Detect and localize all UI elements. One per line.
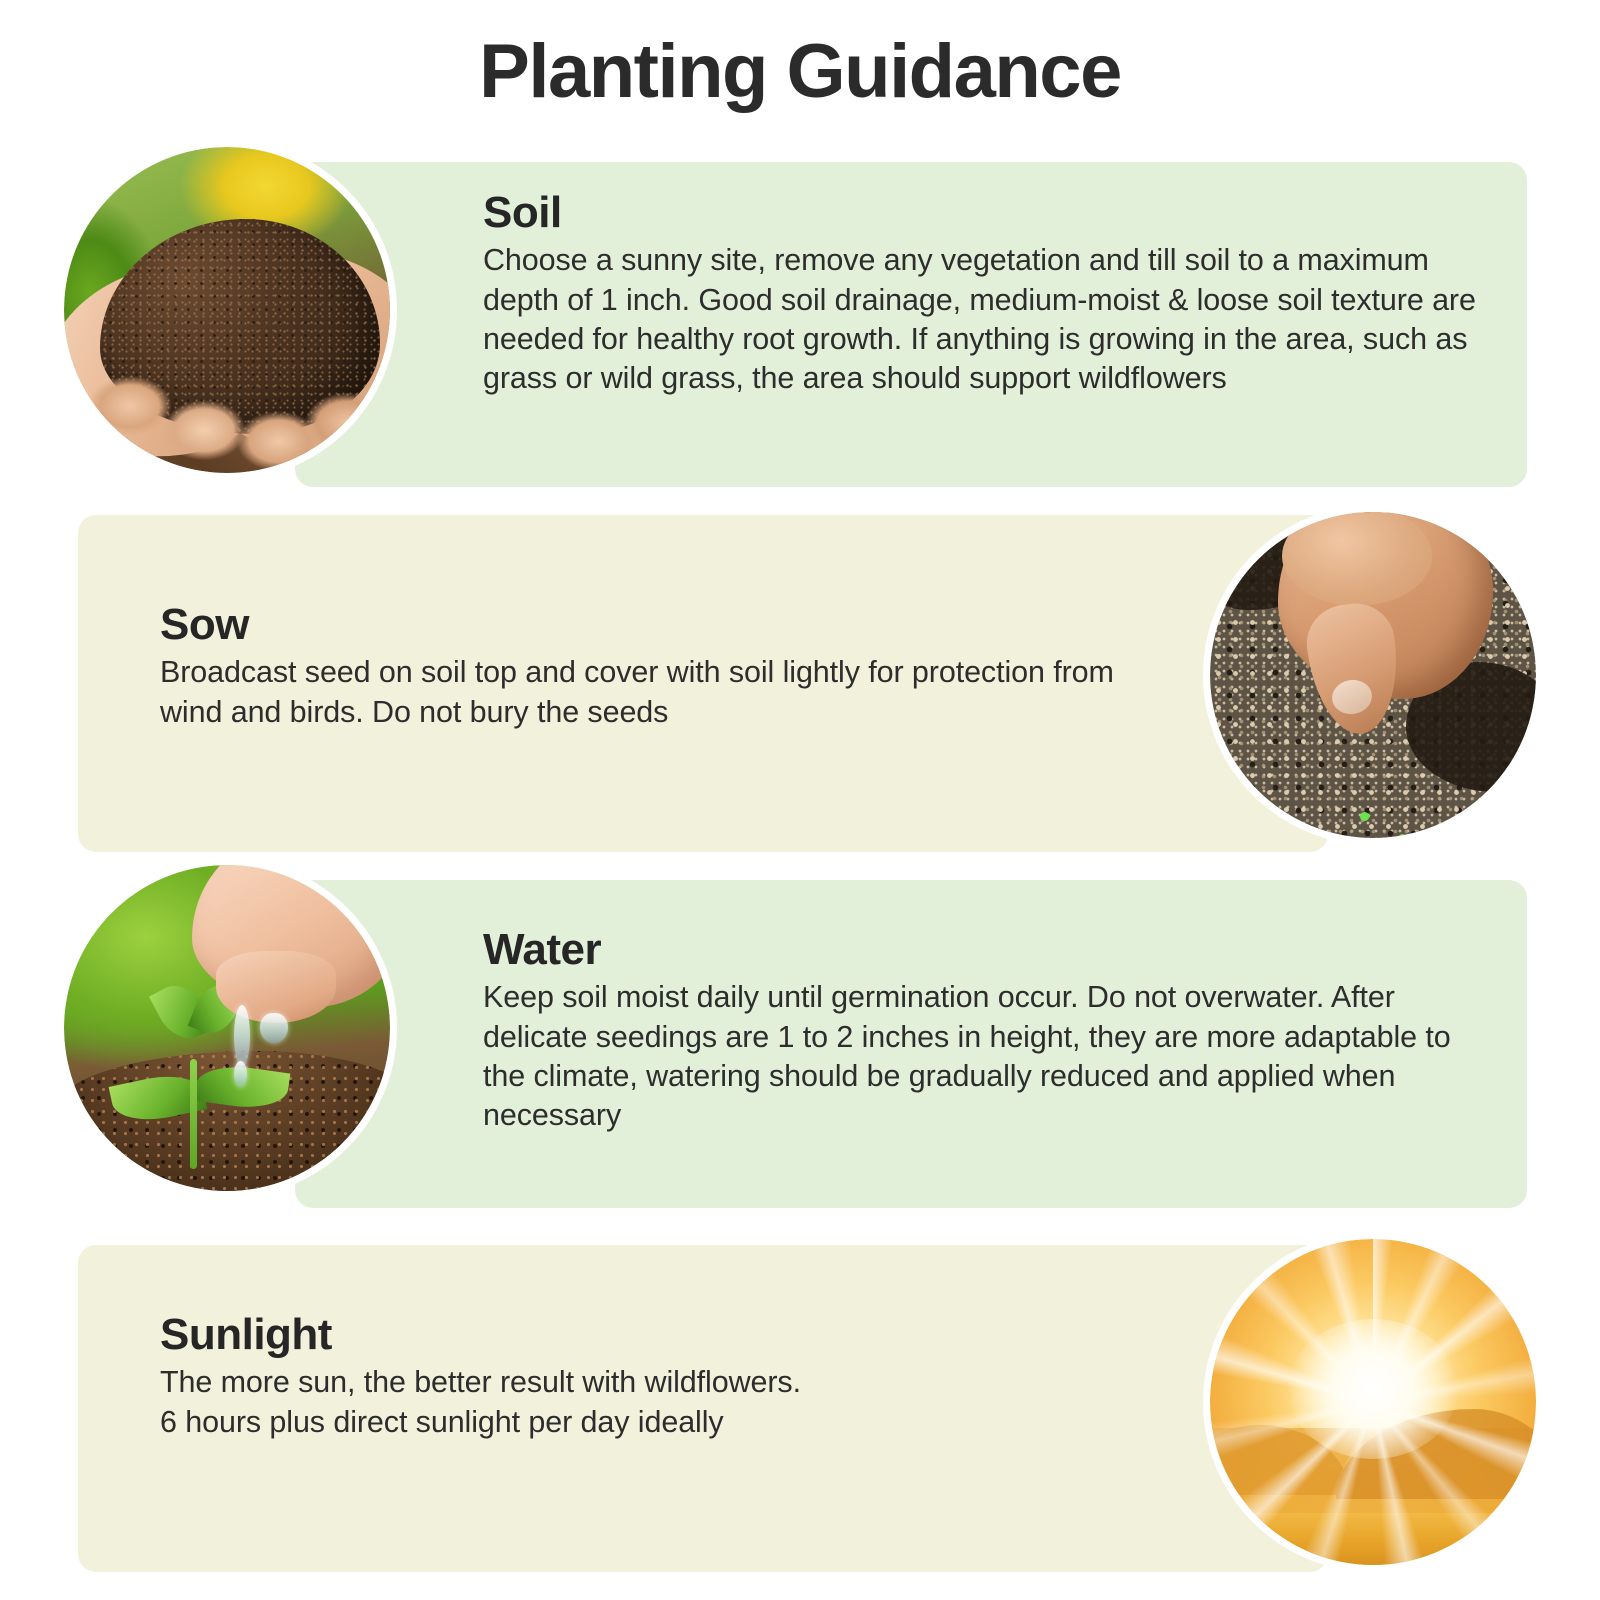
card-sow-heading: Sow	[160, 600, 1120, 649]
sunlight-scene	[1210, 1239, 1536, 1565]
sun-core-glow	[1288, 1319, 1458, 1459]
water-droplet	[234, 1005, 250, 1067]
hands-holding-soil-photo	[57, 140, 397, 480]
soil-scene	[64, 147, 390, 473]
water-scene	[64, 865, 390, 1191]
card-water-body: Keep soil moist daily until germination …	[483, 978, 1483, 1135]
fingers-shape	[74, 362, 384, 472]
card-water-heading: Water	[483, 925, 1483, 974]
card-sow-body: Broadcast seed on soil top and cover wit…	[160, 653, 1120, 732]
card-soil-heading: Soil	[483, 188, 1483, 237]
card-sunlight-heading: Sunlight	[160, 1310, 1060, 1359]
infographic-page: Planting Guidance Soil Choose a sunny si…	[0, 0, 1600, 1600]
card-sow-text: Sow Broadcast seed on soil top and cover…	[160, 600, 1120, 732]
watering-seedling-photo	[57, 858, 397, 1198]
sow-scene	[1210, 512, 1536, 838]
card-water-text: Water Keep soil moist daily until germin…	[483, 925, 1483, 1136]
card-soil-text: Soil Choose a sunny site, remove any veg…	[483, 188, 1483, 399]
card-sunlight-text: Sunlight The more sun, the better result…	[160, 1310, 1060, 1442]
water-droplet	[234, 1061, 247, 1087]
hand-sowing-seeds-photo	[1203, 505, 1543, 845]
card-sunlight-body: The more sun, the better result with wil…	[160, 1363, 1060, 1442]
water-droplet	[260, 1013, 288, 1043]
page-title: Planting Guidance	[0, 28, 1600, 115]
sun-rays-over-field-photo	[1203, 1232, 1543, 1572]
card-soil-body: Choose a sunny site, remove any vegetati…	[483, 241, 1483, 398]
seedling-stem	[190, 1059, 197, 1169]
